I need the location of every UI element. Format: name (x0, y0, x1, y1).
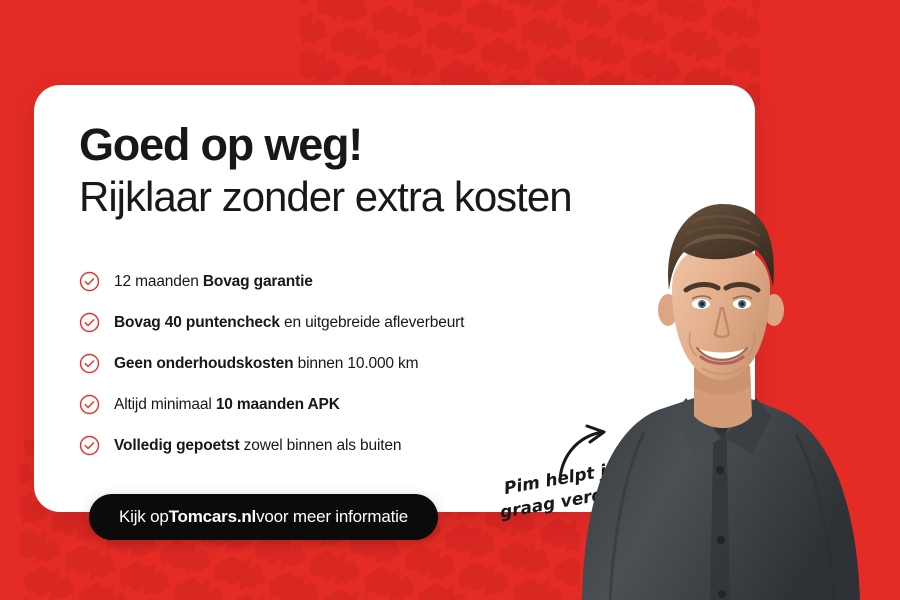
feature-label: Altijd minimaal 10 maanden APK (114, 397, 340, 413)
page-subtitle: Rijklaar zonder extra kosten (79, 173, 572, 220)
cta-post: voor meer informatie (256, 507, 408, 527)
feature-label: Geen onderhoudskosten binnen 10.000 km (114, 356, 418, 372)
cta-pre: Kijk op (119, 507, 169, 527)
list-item: Altijd minimaal 10 maanden APK (79, 384, 639, 425)
feature-label: Bovag 40 puntencheck en uitgebreide afle… (114, 315, 464, 331)
feature-list: 12 maanden Bovag garantie Bovag 40 punte… (79, 261, 639, 466)
cta-button[interactable]: Kijk op Tomcars.nl voor meer informatie (89, 494, 438, 540)
check-circle-icon (79, 312, 100, 333)
check-circle-icon (79, 394, 100, 415)
list-item: Geen onderhoudskosten binnen 10.000 km (79, 343, 639, 384)
check-circle-icon (79, 353, 100, 374)
feature-bold: Bovag garantie (203, 273, 313, 290)
feature-post: binnen 10.000 km (293, 355, 418, 372)
list-item: 12 maanden Bovag garantie (79, 261, 639, 302)
feature-label: 12 maanden Bovag garantie (114, 274, 313, 290)
feature-post: zowel binnen als buiten (239, 437, 401, 454)
list-item: Bovag 40 puntencheck en uitgebreide afle… (79, 302, 639, 343)
feature-bold: Volledig gepoetst (114, 437, 239, 454)
check-circle-icon (79, 435, 100, 456)
check-circle-icon (79, 271, 100, 292)
page-title: Goed op weg! (79, 122, 362, 167)
list-item: Volledig gepoetst zowel binnen als buite… (79, 425, 639, 466)
cta-brand: Tomcars.nl (169, 507, 256, 527)
feature-bold: Bovag 40 puntencheck (114, 314, 280, 331)
promo-card: Goed op weg! Rijklaar zonder extra koste… (34, 85, 755, 512)
feature-pre: Altijd minimaal (114, 396, 216, 413)
feature-pre: 12 maanden (114, 273, 203, 290)
feature-post: en uitgebreide afleverbeurt (280, 314, 465, 331)
feature-bold: 10 maanden APK (216, 396, 340, 413)
feature-bold: Geen onderhoudskosten (114, 355, 293, 372)
feature-label: Volledig gepoetst zowel binnen als buite… (114, 438, 401, 454)
